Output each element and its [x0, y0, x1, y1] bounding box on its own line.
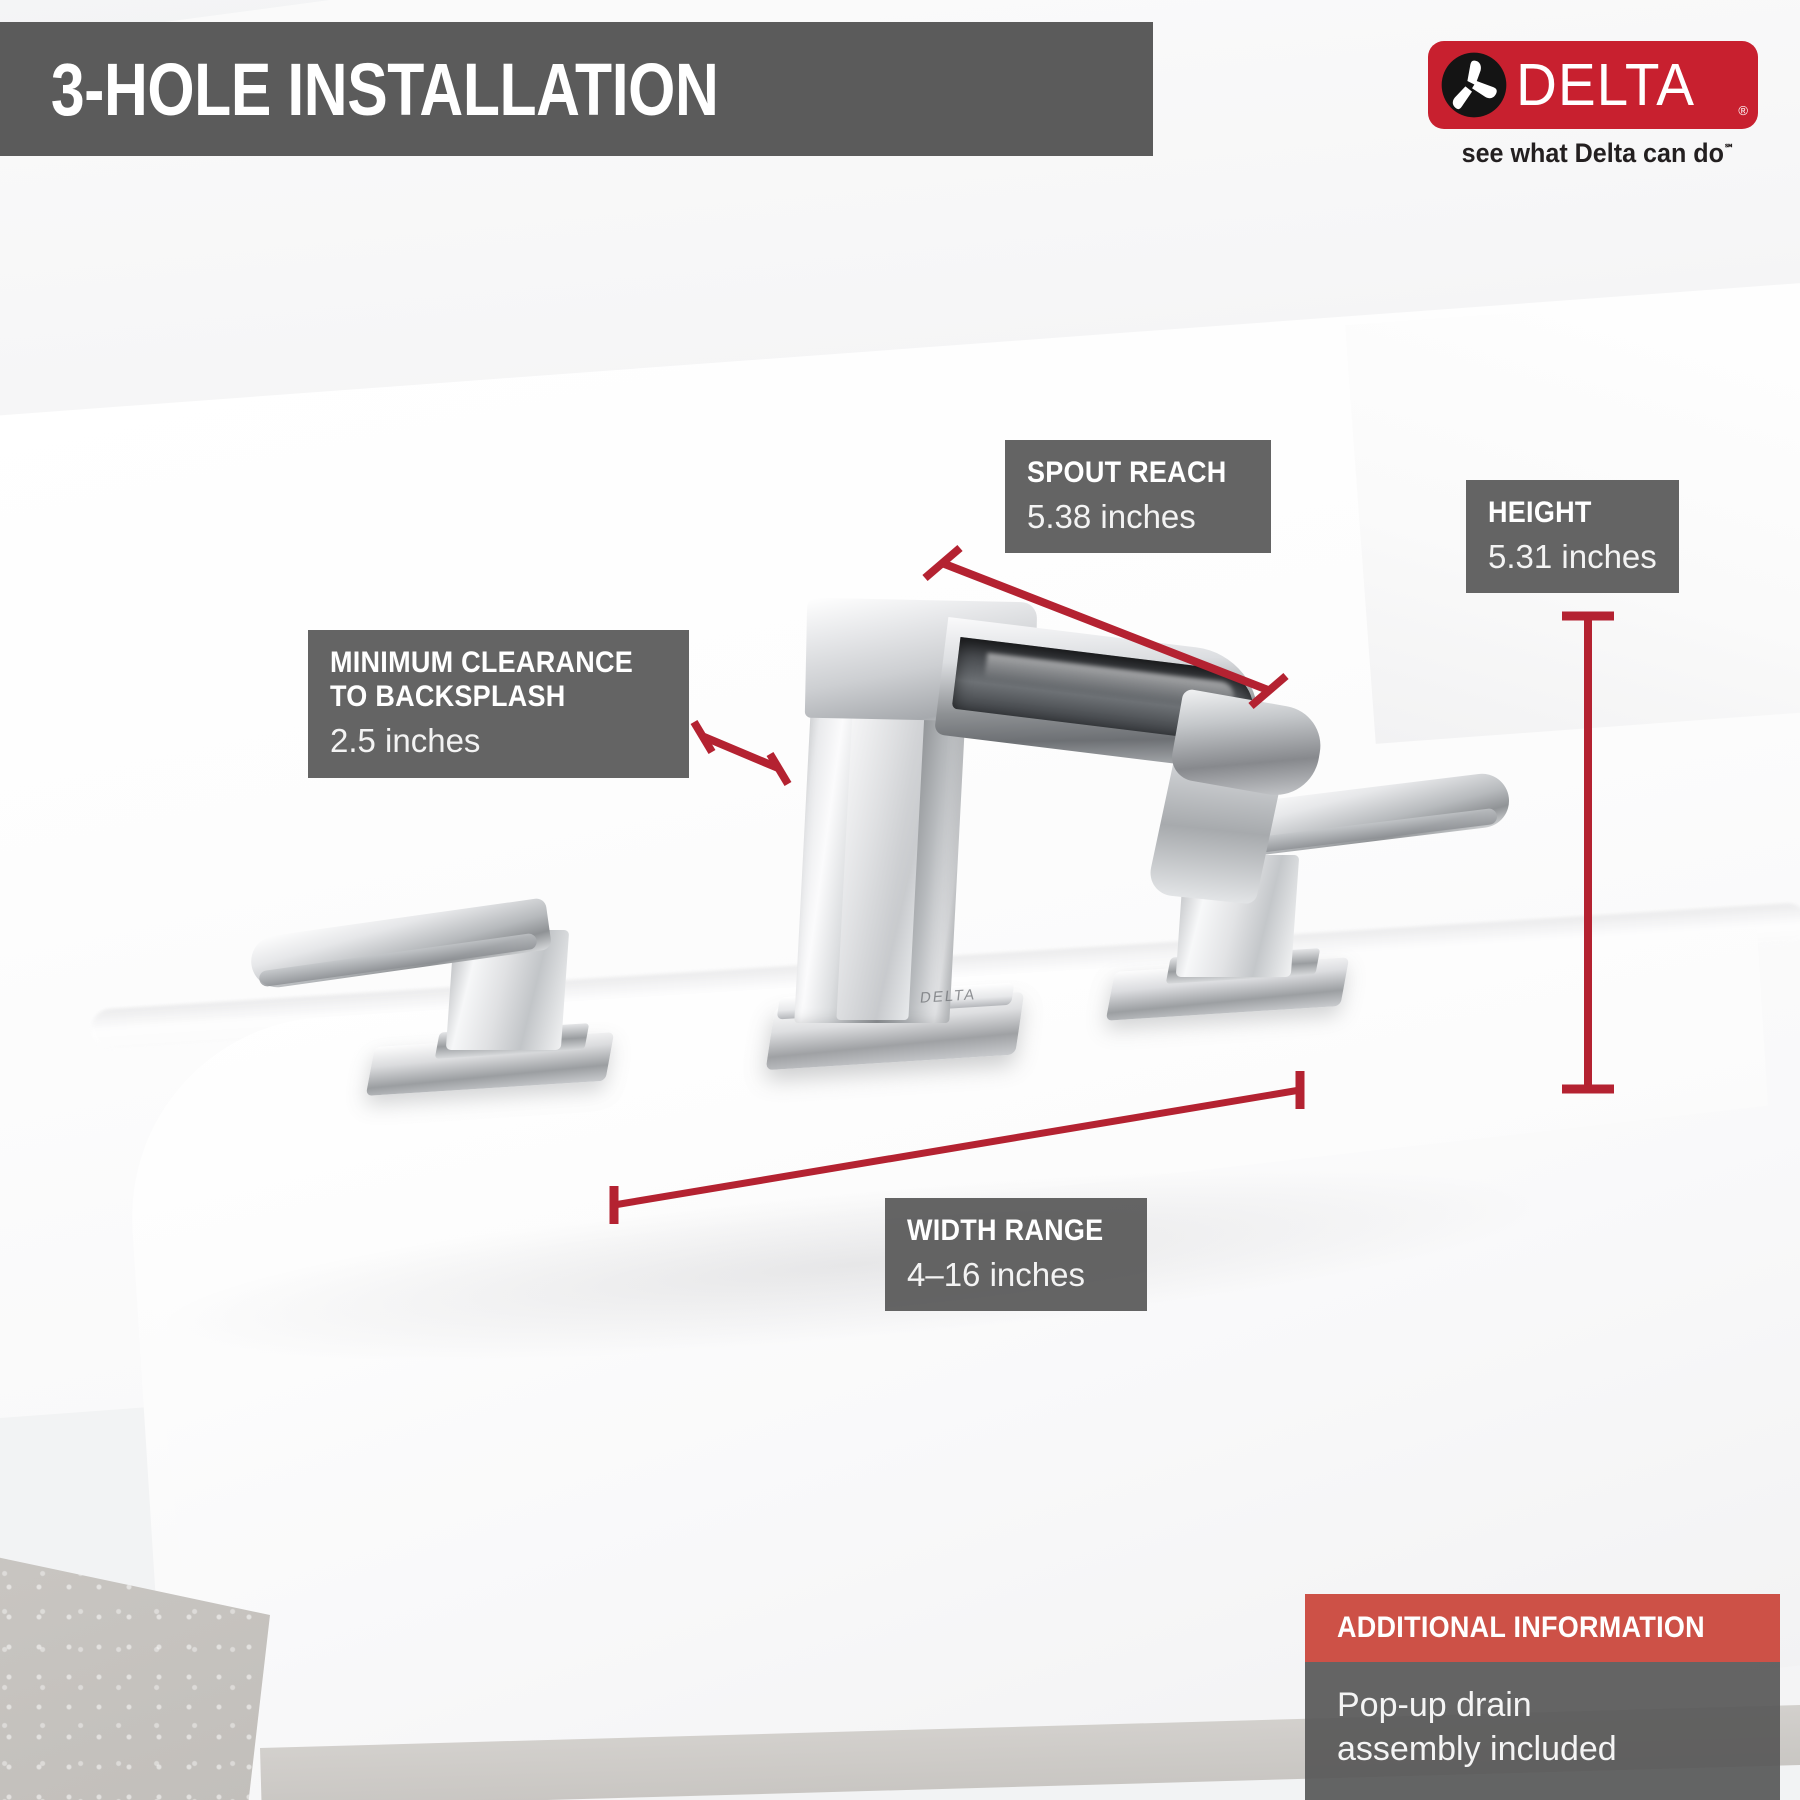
page-title: 3-HOLE INSTALLATION: [0, 47, 718, 132]
callout-width-range: WIDTH RANGE 4–16 inches: [885, 1198, 1147, 1311]
callout-spout-reach-value: 5.38 inches: [1027, 499, 1249, 535]
additional-information-header: ADDITIONAL INFORMATION: [1305, 1594, 1780, 1662]
additional-information-body: Pop-up drain assembly included: [1305, 1662, 1780, 1800]
service-mark: ℠: [1724, 143, 1734, 155]
callout-clearance-title-line2: TO BACKSPLASH: [330, 680, 633, 714]
callout-width-range-value: 4–16 inches: [907, 1257, 1125, 1293]
delta-triangle-icon: [1441, 52, 1507, 118]
callout-height-title: HEIGHT: [1488, 496, 1640, 530]
title-banner: 3-HOLE INSTALLATION: [0, 22, 1153, 156]
additional-information-header-text: ADDITIONAL INFORMATION: [1337, 1611, 1705, 1645]
callout-spout-reach: SPOUT REACH 5.38 inches: [1005, 440, 1271, 553]
product-photo: DELTA: [0, 0, 1800, 1800]
product-spec-image: DELTA: [0, 0, 1800, 1800]
additional-information-line2: assembly included: [1337, 1728, 1748, 1772]
brand-logo-badge: DELTA ®: [1428, 41, 1758, 129]
additional-information-box: ADDITIONAL INFORMATION Pop-up drain asse…: [1305, 1594, 1780, 1800]
brand-wordmark: DELTA: [1516, 51, 1695, 119]
spout-brand-etch: DELTA: [919, 986, 977, 1007]
brand-logo: DELTA ® see what Delta can do℠: [1428, 41, 1768, 169]
brand-tagline-text: see what Delta can do: [1462, 138, 1724, 168]
callout-minimum-clearance: MINIMUM CLEARANCE TO BACKSPLASH 2.5 inch…: [308, 630, 689, 778]
registered-mark: ®: [1738, 103, 1748, 118]
callout-width-range-title: WIDTH RANGE: [907, 1214, 1103, 1248]
callout-spout-reach-title: SPOUT REACH: [1027, 456, 1226, 490]
callout-height-value: 5.31 inches: [1488, 539, 1657, 575]
callout-clearance-value: 2.5 inches: [330, 723, 667, 759]
callout-height: HEIGHT 5.31 inches: [1466, 480, 1679, 593]
brand-tagline: see what Delta can do℠: [1440, 138, 1756, 169]
additional-information-line1: Pop-up drain: [1337, 1684, 1748, 1728]
callout-clearance-title-line1: MINIMUM CLEARANCE: [330, 646, 633, 680]
